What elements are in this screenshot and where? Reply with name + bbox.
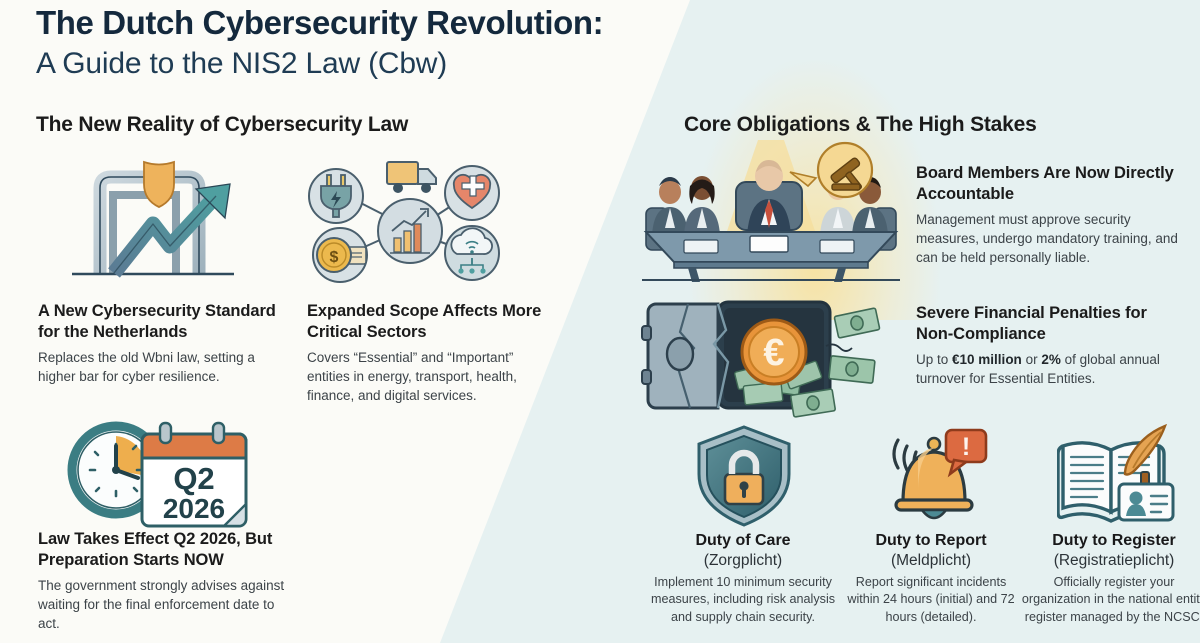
right-block-penalty: Severe Financial Penalties for Non-Compl…: [916, 303, 1188, 388]
left-block-scope: Expanded Scope Affects More Critical Sec…: [307, 301, 542, 405]
svg-text:$: $: [330, 249, 339, 266]
cracked-safe-euro-icon: €: [640, 296, 902, 422]
left-block-standard-title: A New Cybersecurity Standard for the Net…: [38, 301, 286, 343]
duty-register-title: Duty to Register: [1021, 531, 1200, 551]
duty-report-dutch: (Meldplicht): [838, 551, 1024, 570]
left-column-heading: The New Reality of Cybersecurity Law: [36, 113, 408, 137]
duty-register-dutch: (Registratieplicht): [1021, 551, 1200, 570]
penalty-text-mid: or: [1022, 352, 1042, 367]
duty-report-title: Duty to Report: [838, 531, 1024, 551]
gateway-shield-growth-icon: [58, 140, 263, 290]
duty-card-report: Duty to Report (Meldplicht) Report signi…: [838, 531, 1024, 626]
right-block-board-body: Management must approve security measure…: [916, 210, 1194, 267]
euro-symbol: €: [763, 332, 784, 374]
clock-calendar-icon: Q2 2026: [64, 418, 262, 536]
right-block-board: Board Members Are Now Directly Accountab…: [916, 163, 1194, 267]
left-block-scope-title: Expanded Scope Affects More Critical Sec…: [307, 301, 542, 343]
alert-bell-icon: !: [874, 424, 988, 528]
left-block-standard-body: Replaces the old Wbni law, setting a hig…: [38, 348, 286, 386]
boardroom-gavel-icon: [640, 140, 902, 288]
duty-card-register: Duty to Register (Registratieplicht) Off…: [1021, 531, 1200, 626]
duty-report-desc: Report significant incidents within 24 h…: [838, 574, 1024, 626]
right-block-penalty-title: Severe Financial Penalties for Non-Compl…: [916, 303, 1188, 345]
shield-lock-icon: [692, 424, 796, 528]
duty-care-title: Duty of Care: [650, 531, 836, 551]
left-block-date: Law Takes Effect Q2 2026, But Preparatio…: [38, 529, 288, 633]
left-block-date-body: The government strongly advises against …: [38, 576, 288, 633]
sector-network-icon: $: [296, 143, 524, 291]
duty-care-dutch: (Zorgplicht): [650, 551, 836, 570]
penalty-text-pre: Up to: [916, 352, 952, 367]
calendar-quarter: Q2: [173, 461, 214, 496]
page-title: The Dutch Cybersecurity Revolution:: [36, 4, 716, 42]
page-subtitle: A Guide to the NIS2 Law (Cbw): [36, 46, 716, 81]
right-block-board-title: Board Members Are Now Directly Accountab…: [916, 163, 1194, 205]
penalty-percent: 2%: [1041, 352, 1061, 367]
left-block-scope-body: Covers “Essential” and “Important” entit…: [307, 348, 542, 405]
right-column-heading: Core Obligations & The High Stakes: [684, 113, 1037, 137]
alert-exclamation: !: [962, 433, 970, 461]
penalty-amount: €10 million: [952, 352, 1022, 367]
left-block-standard: A New Cybersecurity Standard for the Net…: [38, 301, 286, 386]
duty-card-care: Duty of Care (Zorgplicht) Implement 10 m…: [650, 531, 836, 626]
calendar-year: 2026: [163, 493, 225, 524]
right-block-penalty-body: Up to €10 million or 2% of global annual…: [916, 350, 1188, 388]
infographic-canvas: The Dutch Cybersecurity Revolution: A Gu…: [0, 0, 1200, 643]
duty-register-desc: Officially register your organization in…: [1021, 574, 1200, 626]
duty-care-desc: Implement 10 minimum security measures, …: [650, 574, 836, 626]
book-quill-badge-icon: [1057, 424, 1175, 528]
left-block-date-title: Law Takes Effect Q2 2026, But Preparatio…: [38, 529, 288, 571]
